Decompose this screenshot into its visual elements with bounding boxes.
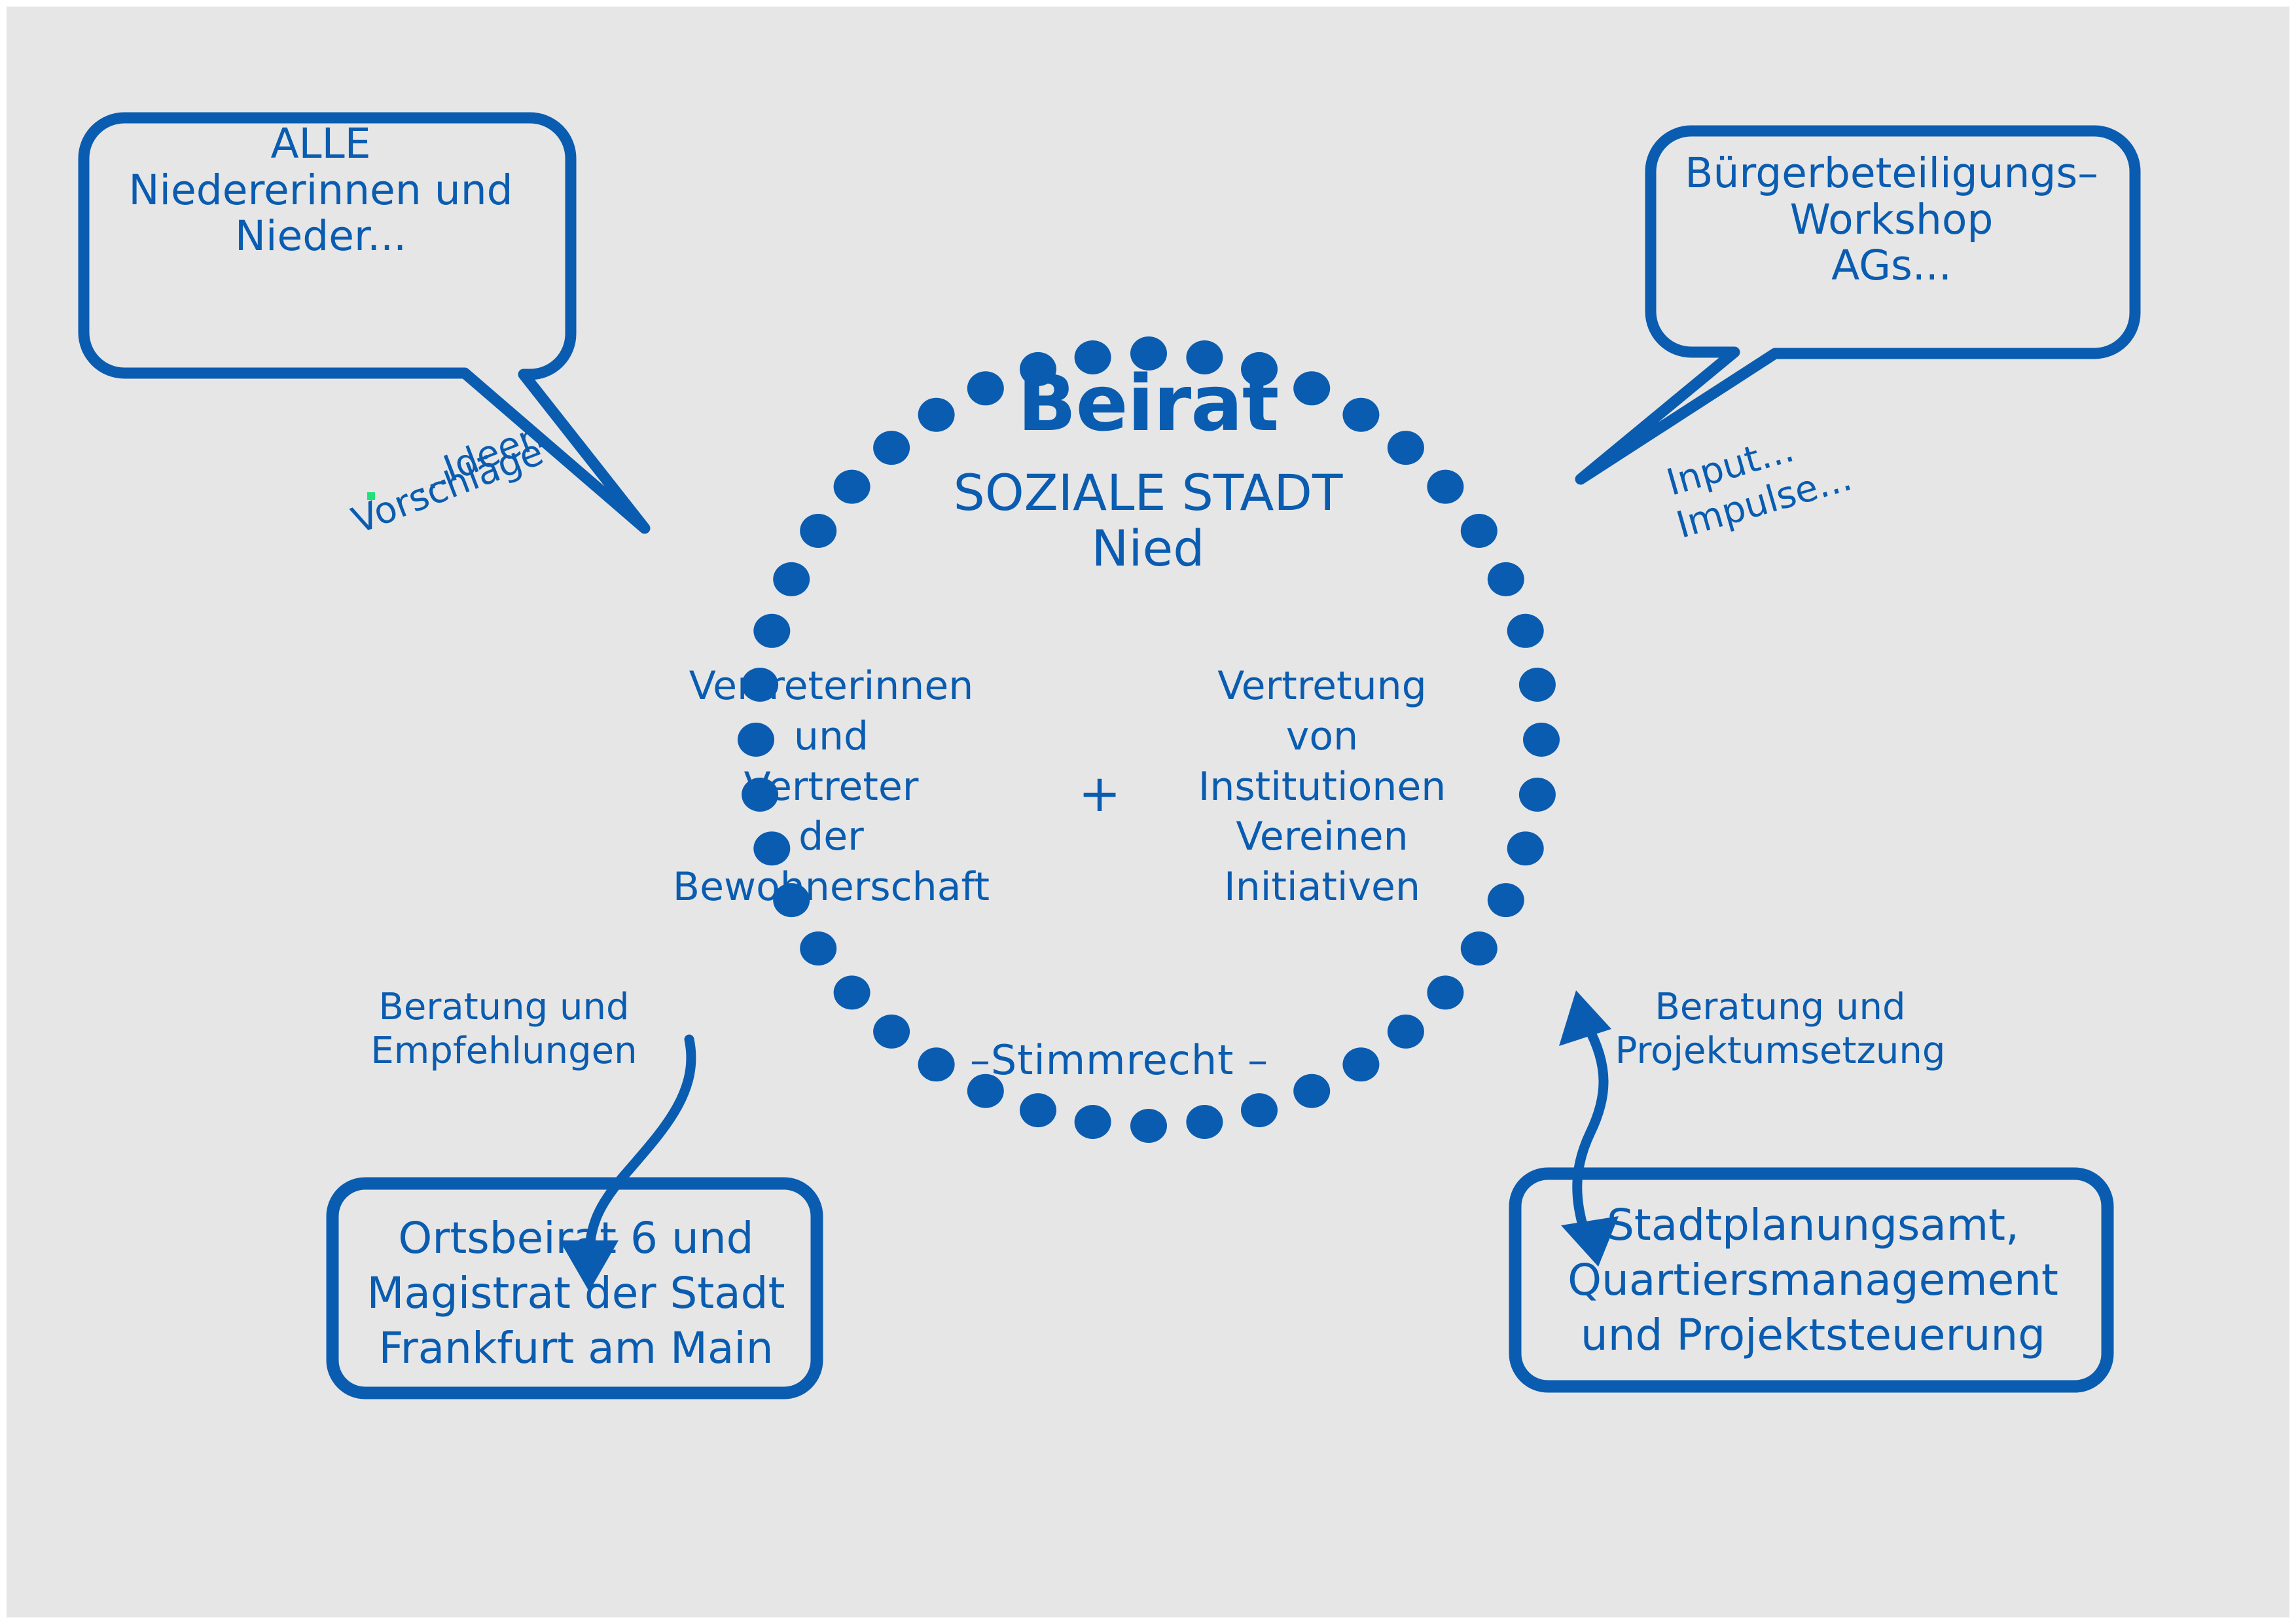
- ring-dot: [1523, 723, 1560, 757]
- ring-dot: [1186, 1105, 1223, 1139]
- bubble-right-label: Bürgerbeteiligungs– Workshop AGs...: [1656, 151, 2127, 289]
- ring-dot: [1488, 883, 1524, 917]
- page-title: Beirat: [821, 360, 1475, 446]
- arrow-right-head-up: [1559, 990, 1611, 1046]
- ring-dot: [1020, 1093, 1056, 1127]
- ring-dot: [1519, 778, 1556, 812]
- circle-column-right: Vertretung von Institutionen Vereinen In…: [1178, 661, 1466, 912]
- circle-subtitle-line1: SOZIALE STADT: [954, 463, 1343, 522]
- box-left-label: Ortsbeirat 6 und Magistrat der Stadt Fra…: [340, 1211, 812, 1375]
- ring-dot: [753, 614, 790, 648]
- plus-icon: +: [1060, 766, 1139, 823]
- ring-dot: [1461, 931, 1498, 965]
- ring-dot: [1519, 668, 1556, 702]
- ring-dot: [1488, 562, 1524, 596]
- arrow-left-label: Beratung und Empfehlungen: [353, 985, 655, 1073]
- diagram-canvas: ALLE Niedererinnen und Nieder... Bürgerb…: [7, 7, 2289, 1617]
- ring-dot: [1241, 1093, 1278, 1127]
- ring-dot: [800, 931, 836, 965]
- box-right-label: Stadtplanungsamt, Quartiersmanagement un…: [1525, 1198, 2101, 1362]
- bubble-left-label: ALLE Niedererinnen und Nieder...: [85, 121, 556, 260]
- circle-subtitle-line2: Nied: [1092, 519, 1205, 577]
- ring-dot: [834, 975, 870, 1009]
- ring-dot: [1342, 1047, 1379, 1081]
- ring-dot: [1427, 975, 1463, 1009]
- ring-dot: [873, 1015, 910, 1049]
- circle-footnote: –Stimmrecht –: [910, 1038, 1329, 1083]
- ring-dot: [1130, 1109, 1167, 1143]
- ring-dot: [1507, 831, 1544, 865]
- ring-dot: [1507, 614, 1544, 648]
- circle-column-left: Vertreterinnen und Vertreter der Bewohne…: [661, 661, 1001, 912]
- ring-dot: [773, 562, 810, 596]
- arrow-right-label: Beratung und Projektumsetzung: [1610, 985, 1950, 1073]
- ring-dot: [1075, 1105, 1111, 1139]
- circle-subtitle: SOZIALE STADTNied: [821, 465, 1475, 576]
- ring-dot: [1388, 1015, 1424, 1049]
